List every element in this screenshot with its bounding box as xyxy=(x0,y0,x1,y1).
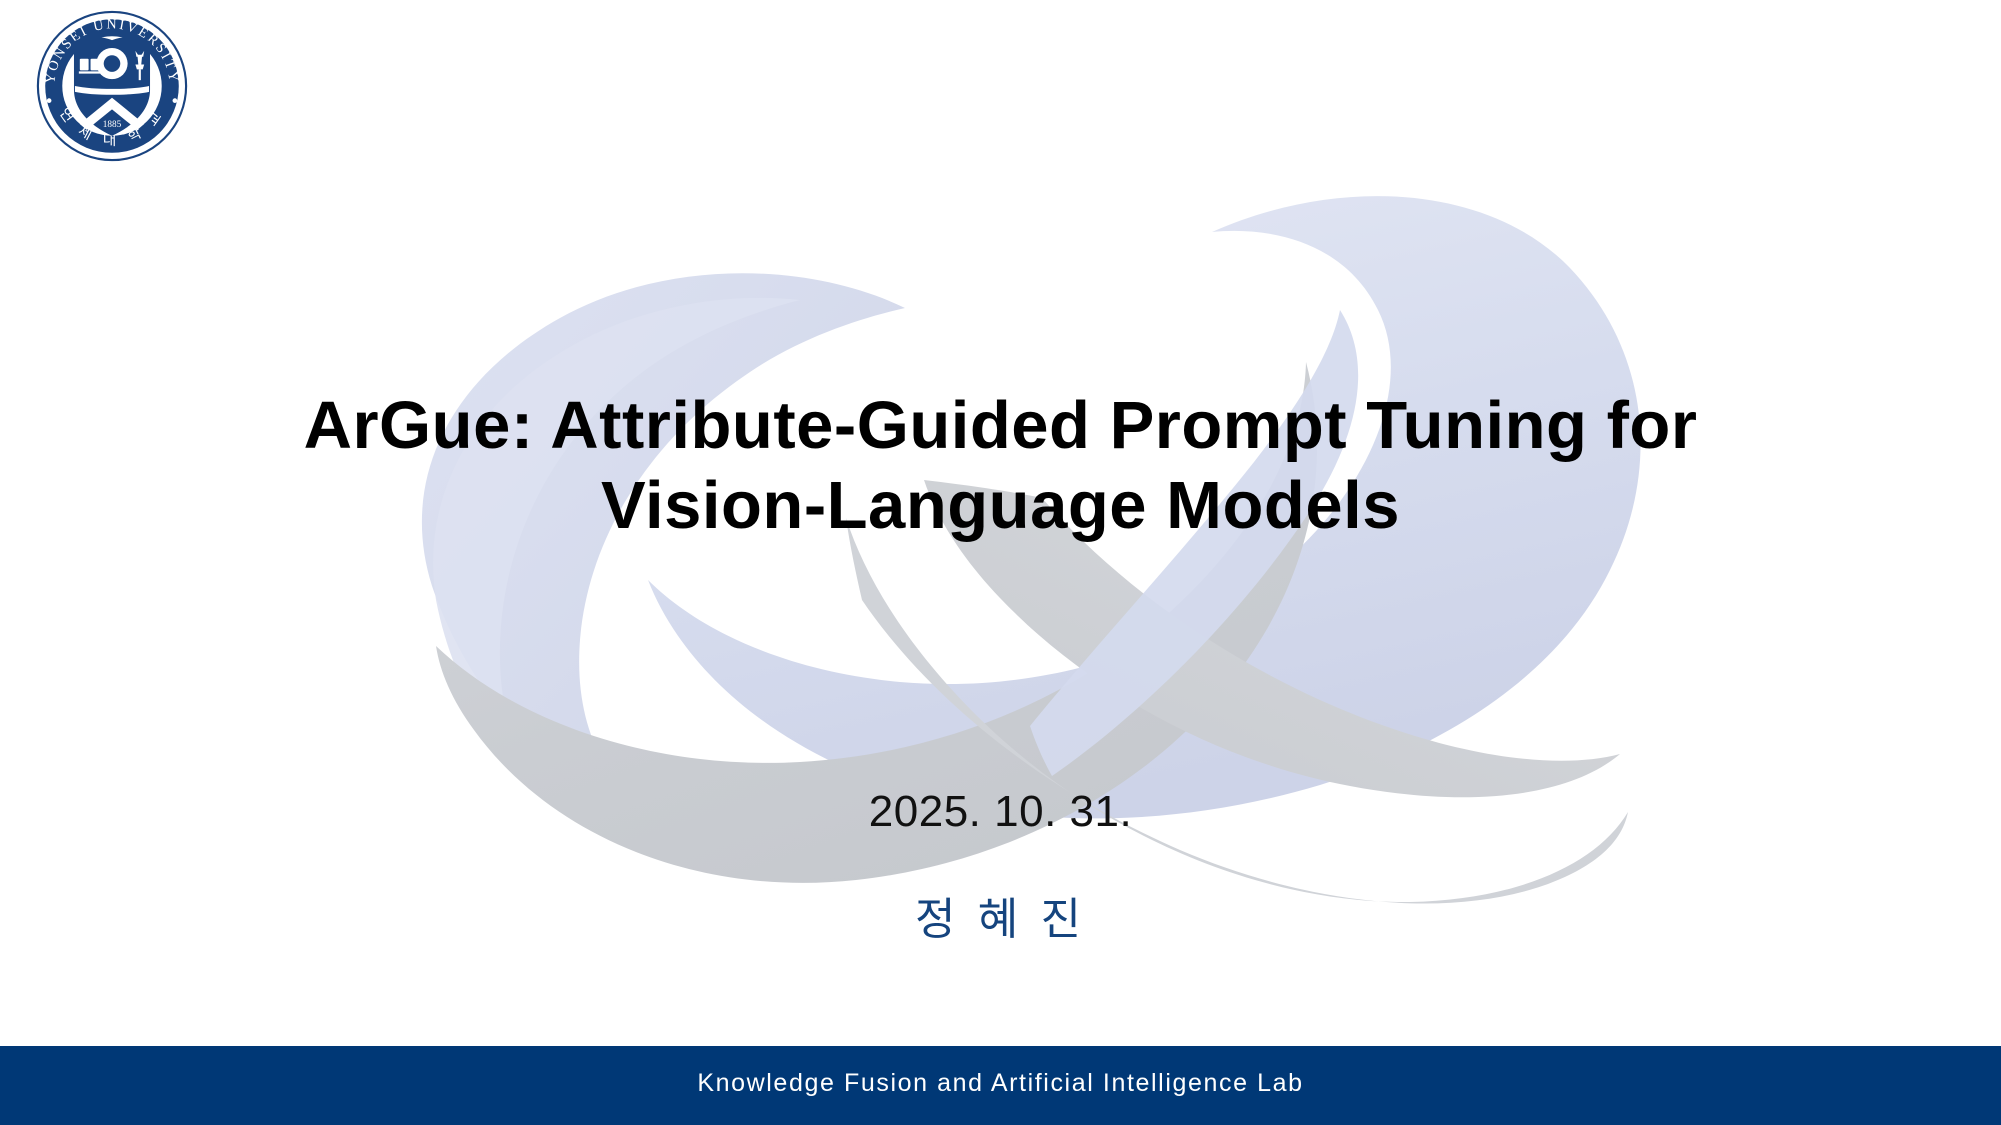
seal-dot-right xyxy=(173,98,178,103)
yonsei-university-seal: YONSEI UNIVERSITY 연 세 대 학 교 xyxy=(14,8,210,164)
page-title: ArGue: Attribute-Guided Prompt Tuning fo… xyxy=(0,386,2001,546)
seal-dot-left xyxy=(47,98,52,103)
presenter-name: 정 혜 진 xyxy=(0,893,2001,947)
lab-name-label: Knowledge Fusion and Artificial Intellig… xyxy=(697,1069,1303,1102)
title-slide: YONSEI UNIVERSITY 연 세 대 학 교 xyxy=(0,0,2001,1125)
shield-circle-inner xyxy=(104,55,121,72)
footer-bar: Knowledge Fusion and Artificial Intellig… xyxy=(0,1046,2001,1125)
seal-founded-year: 1885 xyxy=(103,120,122,130)
presentation-date: 2025. 10. 31. xyxy=(0,786,2001,838)
infinity-ribbon-graphic xyxy=(0,0,2001,1125)
date-block: 2025. 10. 31. xyxy=(0,786,2001,838)
decoration-grey-thin-band xyxy=(846,518,1628,903)
title-block: ArGue: Attribute-Guided Prompt Tuning fo… xyxy=(0,386,2001,546)
presenter-block: 정 혜 진 xyxy=(0,893,2001,947)
